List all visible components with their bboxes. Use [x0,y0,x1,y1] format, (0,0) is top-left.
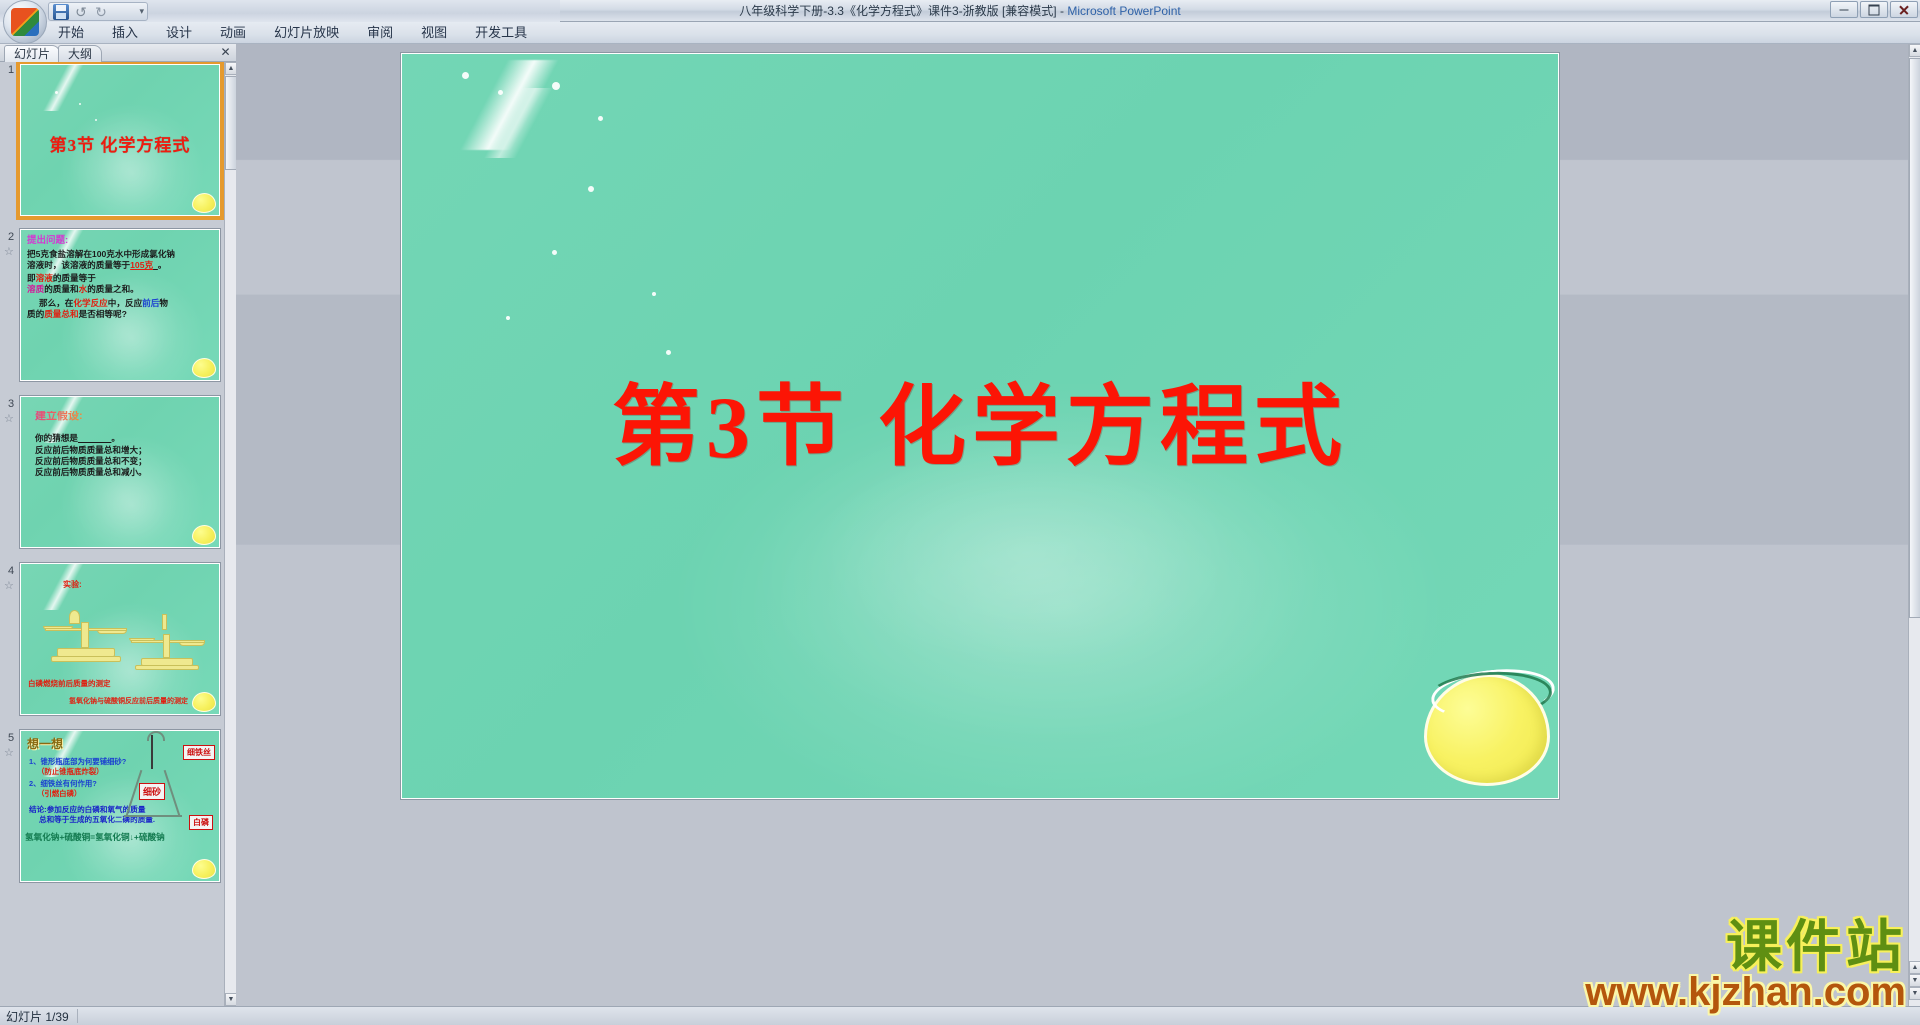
previous-slide-icon[interactable]: ▲ [1909,961,1920,974]
slide4-caption-right: 氢氧化钠与硫酸铜反应前后质量的测定 [69,696,188,706]
save-icon[interactable] [53,4,69,20]
scroll-up-icon[interactable]: ▲ [1909,44,1920,57]
powerpoint-window: 八年级科学下册-3.3《化学方程式》课件3-浙教版 [兼容模式] - Micro… [0,0,1920,1025]
balance-scale-right-icon [129,624,209,676]
maximize-restore-button[interactable] [1860,1,1888,18]
callout-phosphorus: 白磷 [189,815,213,830]
window-title: 八年级科学下册-3.3《化学方程式》课件3-浙教版 [兼容模式] - Micro… [0,0,1920,22]
slide4-caption-left: 白磷燃烧前后质量的测定 [28,678,111,689]
slide2-line6b: 是否相等呢? [79,309,127,319]
pane-tab-slides[interactable]: 幻灯片 [4,45,60,62]
tab-view[interactable]: 视图 [407,22,461,44]
customize-qat-icon[interactable]: ▾ [139,6,144,17]
sparkle-decoration-icon [23,65,115,111]
lemon-icon [192,859,216,879]
current-slide[interactable]: 第3节 化学方程式 [401,53,1559,799]
slide2-line4b: 的质量之和。 [87,284,139,294]
scroll-down-icon[interactable]: ▼ [1909,987,1920,1000]
slide5-heading: 想一想 [27,735,63,752]
slide3-option3: 反应前后物质质量总和减小。 [35,467,214,478]
status-slide-indicator: 幻灯片 1/39 [0,1008,69,1025]
slide2-line5c: 物 [159,298,168,308]
flask-hook-arc [147,731,165,741]
lemon-icon [192,358,216,378]
slide5-a1: （防止锥瓶底炸裂） [29,767,149,777]
quick-access-toolbar: ↺ ↻ ▾ [48,2,148,21]
slide4-heading: 实验: [63,579,82,590]
slide2-kw-beforeafter: 前后 [142,298,159,308]
window-controls [1830,1,1918,18]
slide5-equation: 氢氧化钠+硫酸铜=氢氧化铜↓+硫酸钠 [25,831,217,843]
slides-pane-scrollbar[interactable]: ▲ ▼ [224,62,236,1006]
animation-star-icon: ☆ [4,412,14,425]
list-item[interactable]: 4 ☆ 实验: [0,563,224,723]
slide-thumbnail-2[interactable]: 提出问题: 把5克食盐溶解在100克水中形成氯化钠 溶液时，该溶液的质量等于10… [20,229,220,381]
slide3-period: 。 [111,433,120,443]
list-item[interactable]: 3 ☆ 建立假设: 你的猜想是 。 反应前后物质质量总和增大； 反应前后物质质量… [0,396,224,556]
slide2-kw-solute: 溶质 [27,284,44,294]
slide3-heading: 建立假设: [35,411,214,422]
close-button[interactable] [1890,1,1918,18]
lemon-icon [192,525,216,545]
sparkle-decoration-icon [402,54,732,194]
office-logo-icon [11,8,39,36]
slides-pane: 幻灯片 大纲 ✕ 1 第3节 化学方程式 2 ☆ [0,44,236,1006]
balance-scale-left-icon [43,610,129,668]
slide3-option1: 反应前后物质质量总和增大； [35,445,214,456]
slide-number: 2 [2,231,20,243]
callout-sand: 细砂 [139,783,165,800]
slide-thumbnail-list[interactable]: 1 第3节 化学方程式 2 ☆ 提出问题: [0,62,224,1006]
slide-thumbnail-title: 第3节 化学方程式 [21,131,219,156]
list-item[interactable]: 2 ☆ 提出问题: 把5克食盐溶解在100克水中形成氯化钠 溶液时，该溶液的质量… [0,229,224,389]
main-scrollbar[interactable]: ▲ ▲ ▼ ▼ [1908,44,1920,1006]
next-slide-icon[interactable]: ▼ [1909,974,1920,987]
tab-insert[interactable]: 插入 [98,22,152,44]
slide2-answer: 105克 [130,260,153,270]
tab-slideshow[interactable]: 幻灯片放映 [260,22,353,44]
slide-number: 3 [2,398,20,410]
slide2-kw-masssum: 质量总和 [44,309,78,319]
slide2-line5a: 那么，在 [39,298,73,308]
slide2-period: 。 [158,260,167,270]
lemon-icon [1424,674,1550,786]
undo-icon[interactable]: ↺ [73,4,89,20]
slide-editing-area[interactable]: 第3节 化学方程式 课件站 www.kjzhan.com [236,44,1908,1006]
slide2-line5b: 中，反应 [108,298,142,308]
divider [77,1009,78,1023]
scrollbar-thumb[interactable] [1909,58,1920,618]
slide-number: 1 [2,64,20,76]
slide3-line1: 你的猜想是 [35,433,78,443]
slide-thumbnail-4[interactable]: 实验: [20,563,220,715]
slides-pane-tabs: 幻灯片 大纲 ✕ [0,44,236,62]
lemon-icon [192,692,216,712]
slide2-kw-solution: 溶液 [36,273,53,283]
slide2-line1: 把5克食盐溶解在100克水中形成氯化钠 [27,249,175,259]
slide-thumbnail-1[interactable]: 第3节 化学方程式 [20,64,220,216]
slide3-option2: 反应前后物质质量总和不变； [35,456,214,467]
window-title-separator: - [1060,4,1064,18]
lemon-icon [192,193,216,213]
slide-thumbnail-5[interactable]: 想一想 1、锥形瓶底部为何要铺细砂? （防止锥瓶底炸裂） 2、细铁丝有何作用? … [20,730,220,882]
slide2-line2: 溶液时，该溶液的质量等于 [27,260,130,270]
tab-review[interactable]: 审阅 [353,22,407,44]
slide2-heading: 提出问题: [27,235,214,246]
slide2-line4a: 的质量和 [44,284,78,294]
tab-animations[interactable]: 动画 [206,22,260,44]
minimize-button[interactable] [1830,1,1858,18]
callout-iron-wire: 细铁丝 [183,745,215,760]
tab-developer[interactable]: 开发工具 [461,22,541,44]
close-icon[interactable]: ✕ [219,46,232,59]
window-title-document: 八年级科学下册-3.3《化学方程式》课件3-浙教版 [兼容模式] [739,4,1056,18]
slide-number: 4 [2,565,20,577]
slide2-kw-water: 水 [79,284,88,294]
pane-tab-outline[interactable]: 大纲 [58,45,102,62]
window-title-app: Microsoft PowerPoint [1067,4,1180,18]
redo-icon[interactable]: ↻ [93,4,109,20]
slide2-line3b: 的质量等于 [53,273,96,283]
tab-home[interactable]: 开始 [44,22,98,44]
tab-design[interactable]: 设计 [152,22,206,44]
slide2-line6a: 质的 [27,309,44,319]
list-item[interactable]: 5 ☆ 想一想 1、锥形瓶底部为何要铺细砂? （防止锥瓶底炸裂） 2、细铁丝有何… [0,730,224,890]
office-button[interactable] [3,0,47,44]
list-item[interactable]: 1 第3节 化学方程式 [0,62,224,222]
animation-star-icon: ☆ [4,245,14,258]
slide2-line3a: 即 [27,273,36,283]
animation-star-icon: ☆ [4,746,14,759]
slide-thumbnail-3[interactable]: 建立假设: 你的猜想是 。 反应前后物质质量总和增大； 反应前后物质质量总和不变… [20,396,220,548]
slide-thumbnail-body: 提出问题: 把5克食盐溶解在100克水中形成氯化钠 溶液时，该溶液的质量等于10… [27,235,214,320]
slide2-kw-reaction: 化学反应 [73,298,107,308]
slide5-q1: 1、锥形瓶底部为何要铺细砂? [29,757,149,767]
slide-number: 5 [2,732,20,744]
slide-title-text[interactable]: 第3节 化学方程式 [402,385,1558,473]
animation-star-icon: ☆ [4,579,14,592]
ribbon-tabs: 开始 插入 设计 动画 幻灯片放映 审阅 视图 开发工具 [44,22,541,44]
flask-bottom [124,815,182,817]
title-bar: 八年级科学下册-3.3《化学方程式》课件3-浙教版 [兼容模式] - Micro… [0,0,1920,22]
status-bar: 幻灯片 1/39 [0,1006,1920,1025]
slide5-q2: 2、细铁丝有何作用? [29,779,149,789]
